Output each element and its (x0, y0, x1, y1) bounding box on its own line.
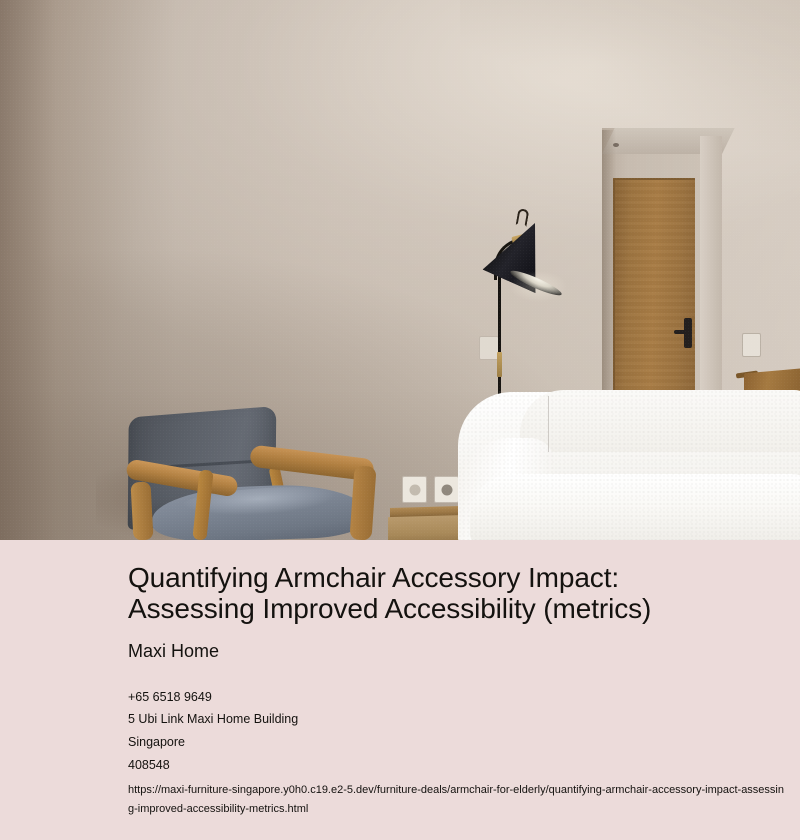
wall-outlet-icon-right (742, 333, 761, 357)
sofa-seam (548, 396, 549, 452)
lamp-pole-brass-band (497, 352, 502, 377)
contact-city: Singapore (128, 731, 672, 754)
contact-address-line1: 5 Ubi Link Maxi Home Building (128, 708, 672, 731)
door-hinge-icon (613, 143, 619, 147)
content-panel: Quantifying Armchair Accessory Impact: A… (0, 540, 800, 840)
brand-name: Maxi Home (128, 641, 672, 662)
armchair-left-front-leg (130, 482, 153, 540)
door-lever-icon (674, 330, 686, 334)
page-url[interactable]: https://maxi-furniture-singapore.y0h0.c1… (128, 781, 788, 820)
sofa-seat-cushion (470, 474, 800, 540)
hero-image (0, 0, 800, 540)
sofa-backrest (520, 390, 800, 452)
page-title: Quantifying Armchair Accessory Impact: A… (128, 562, 672, 625)
page-root: Quantifying Armchair Accessory Impact: A… (0, 0, 800, 840)
contact-block: +65 6518 9649 5 Ubi Link Maxi Home Build… (128, 686, 672, 777)
wall-outlet-icon-low-left (402, 476, 427, 503)
contact-phone[interactable]: +65 6518 9649 (128, 686, 672, 709)
wall-outlet-icon-low-right (434, 476, 459, 503)
wall-outlet-icon-middle (479, 336, 499, 360)
contact-postal-code: 408548 (128, 754, 672, 777)
